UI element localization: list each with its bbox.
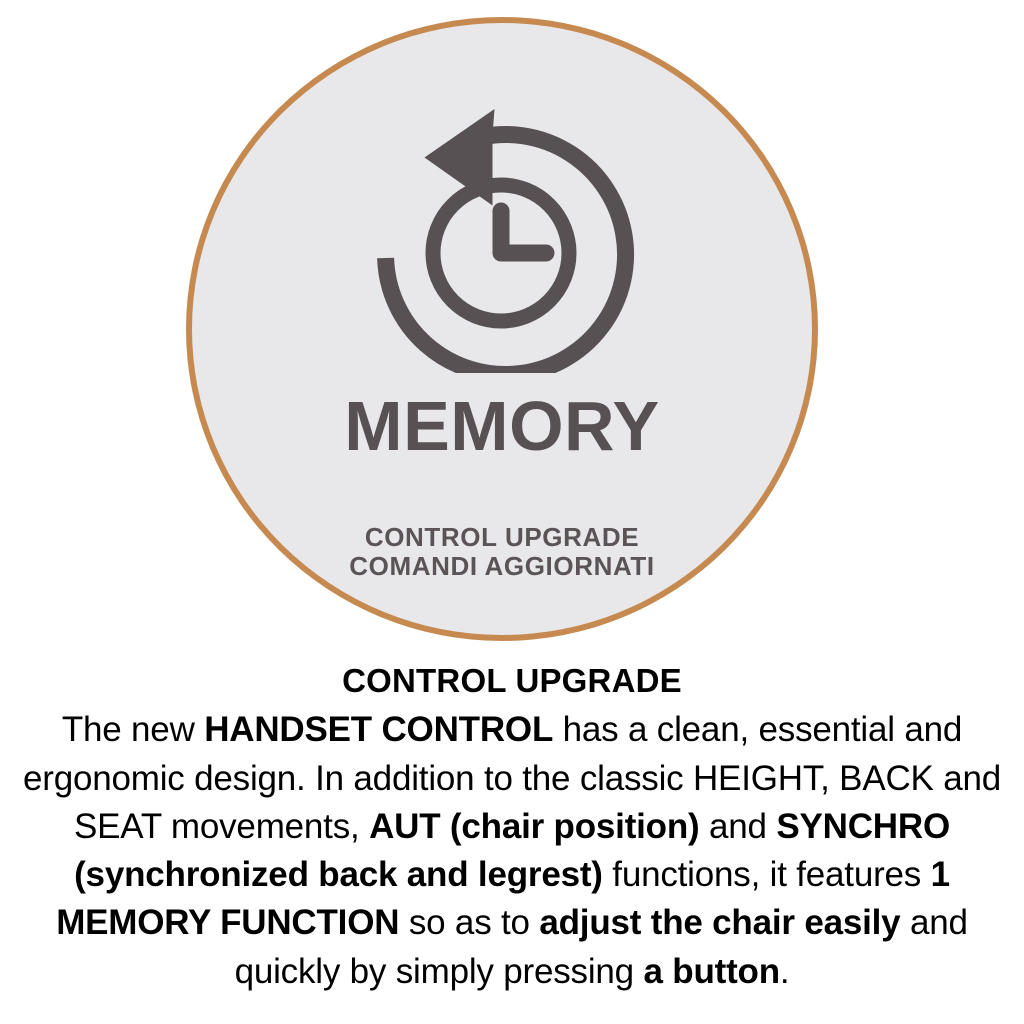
caption-heading: CONTROL UPGRADE bbox=[18, 660, 1006, 702]
badge-subtitles: CONTROL UPGRADE COMANDI AGGIORNATI bbox=[192, 523, 812, 582]
caption-body: The new HANDSET CONTROL has a clean, ess… bbox=[18, 706, 1006, 996]
product-feature-card: MEMORY CONTROL UPGRADE COMANDI AGGIORNAT… bbox=[0, 0, 1024, 1024]
badge-subtitle-it: COMANDI AGGIORNATI bbox=[192, 552, 812, 581]
memory-badge: MEMORY CONTROL UPGRADE COMANDI AGGIORNAT… bbox=[186, 17, 818, 641]
badge-subtitle-en: CONTROL UPGRADE bbox=[192, 523, 812, 552]
caption-block: CONTROL UPGRADE The new HANDSET CONTROL … bbox=[0, 660, 1024, 996]
clock-rotate-left-icon bbox=[366, 101, 638, 373]
badge-title: MEMORY bbox=[192, 391, 812, 461]
